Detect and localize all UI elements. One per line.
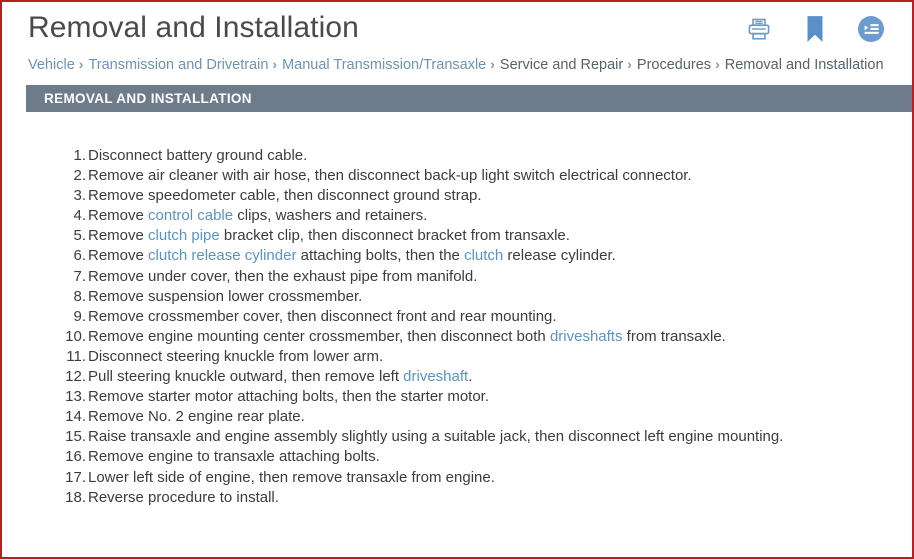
procedure-step: Remove air cleaner with air hose, then d… — [64, 166, 910, 186]
step-text: Remove speedometer cable, then disconnec… — [88, 187, 482, 204]
step-link[interactable]: control cable — [148, 207, 233, 224]
section-header-wrap: REMOVAL AND INSTALLATION — [2, 85, 912, 112]
step-link[interactable]: driveshafts — [550, 328, 623, 345]
procedure-step: Remove clutch pipe bracket clip, then di… — [64, 226, 910, 246]
procedure-steps-list: Disconnect battery ground cable.Remove a… — [26, 146, 910, 508]
breadcrumb-item-service-and-repair: Service and Repair — [500, 57, 623, 73]
step-link[interactable]: clutch release cylinder — [148, 247, 296, 264]
page-title: Removal and Installation — [28, 8, 359, 48]
procedure-step: Disconnect battery ground cable. — [64, 146, 910, 166]
procedure-step: Reverse procedure to install. — [64, 488, 910, 508]
procedure-step: Remove engine to transaxle attaching bol… — [64, 447, 910, 467]
procedure-step: Remove engine mounting center crossmembe… — [64, 327, 910, 347]
step-text: Remove No. 2 engine rear plate. — [88, 408, 305, 425]
step-text: from transaxle. — [622, 328, 725, 345]
step-text: Remove under cover, then the exhaust pip… — [88, 268, 477, 285]
table-of-contents-icon[interactable] — [856, 14, 886, 44]
content-panel: Disconnect battery ground cable.Remove a… — [26, 112, 910, 538]
breadcrumb-item-removal-and-installation: Removal and Installation — [725, 57, 884, 73]
procedure-step: Remove under cover, then the exhaust pip… — [64, 267, 910, 287]
step-text: Remove starter motor attaching bolts, th… — [88, 388, 489, 405]
procedure-step: Remove control cable clips, washers and … — [64, 206, 910, 226]
step-text: Remove — [88, 207, 148, 224]
section-heading: REMOVAL AND INSTALLATION — [26, 85, 912, 112]
step-text: release cylinder. — [503, 247, 616, 264]
breadcrumb: Vehicle›Transmission and Drivetrain›Manu… — [2, 48, 912, 75]
table-of-contents-icon-glyph — [857, 15, 885, 43]
breadcrumb-separator: › — [268, 56, 282, 72]
breadcrumb-separator: › — [486, 56, 500, 72]
header-actions — [744, 8, 894, 44]
step-text: Lower left side of engine, then remove t… — [88, 469, 495, 486]
breadcrumb-item-transmission-and-drivetrain[interactable]: Transmission and Drivetrain — [88, 57, 268, 73]
procedure-step: Raise transaxle and engine assembly slig… — [64, 427, 910, 447]
procedure-step: Remove suspension lower crossmember. — [64, 287, 910, 307]
procedure-step: Remove crossmember cover, then disconnec… — [64, 307, 910, 327]
step-link[interactable]: driveshaft — [403, 368, 468, 385]
step-text: bracket clip, then disconnect bracket fr… — [220, 227, 570, 244]
procedure-step: Disconnect steering knuckle from lower a… — [64, 347, 910, 367]
procedure-step: Remove speedometer cable, then disconnec… — [64, 186, 910, 206]
breadcrumb-separator: › — [623, 56, 637, 72]
print-icon[interactable] — [744, 14, 774, 44]
step-text: Remove engine mounting center crossmembe… — [88, 328, 550, 345]
step-text: clips, washers and retainers. — [233, 207, 427, 224]
step-link[interactable]: clutch — [464, 247, 503, 264]
step-text: Reverse procedure to install. — [88, 489, 279, 506]
step-text: Remove — [88, 247, 148, 264]
procedure-step: Remove starter motor attaching bolts, th… — [64, 387, 910, 407]
step-text: Remove engine to transaxle attaching bol… — [88, 448, 380, 465]
breadcrumb-separator: › — [75, 56, 89, 72]
step-text: Pull steering knuckle outward, then remo… — [88, 368, 403, 385]
breadcrumb-item-procedures: Procedures — [637, 57, 711, 73]
bookmark-icon[interactable] — [800, 14, 830, 44]
print-icon-glyph — [746, 16, 772, 42]
step-text: attaching bolts, then the — [296, 247, 464, 264]
step-text: Remove — [88, 227, 148, 244]
step-text: Disconnect battery ground cable. — [88, 147, 307, 164]
step-text: Disconnect steering knuckle from lower a… — [88, 348, 383, 365]
step-text: Remove suspension lower crossmember. — [88, 288, 362, 305]
document-page: Removal and Installation — [0, 0, 914, 559]
page-header: Removal and Installation — [2, 2, 912, 75]
procedure-step: Remove clutch release cylinder attaching… — [64, 246, 910, 266]
step-text: Remove crossmember cover, then disconnec… — [88, 308, 557, 325]
step-text: Raise transaxle and engine assembly slig… — [88, 428, 783, 445]
breadcrumb-item-vehicle[interactable]: Vehicle — [28, 57, 75, 73]
breadcrumb-separator: › — [711, 56, 725, 72]
breadcrumb-item-manual-transmission-transaxle[interactable]: Manual Transmission/Transaxle — [282, 57, 486, 73]
procedure-step: Pull steering knuckle outward, then remo… — [64, 367, 910, 387]
procedure-step: Remove No. 2 engine rear plate. — [64, 407, 910, 427]
step-text: . — [468, 368, 472, 385]
step-text: Remove air cleaner with air hose, then d… — [88, 167, 692, 184]
title-row: Removal and Installation — [2, 8, 912, 48]
procedure-step: Lower left side of engine, then remove t… — [64, 468, 910, 488]
step-link[interactable]: clutch pipe — [148, 227, 220, 244]
bookmark-icon-glyph — [802, 14, 828, 44]
